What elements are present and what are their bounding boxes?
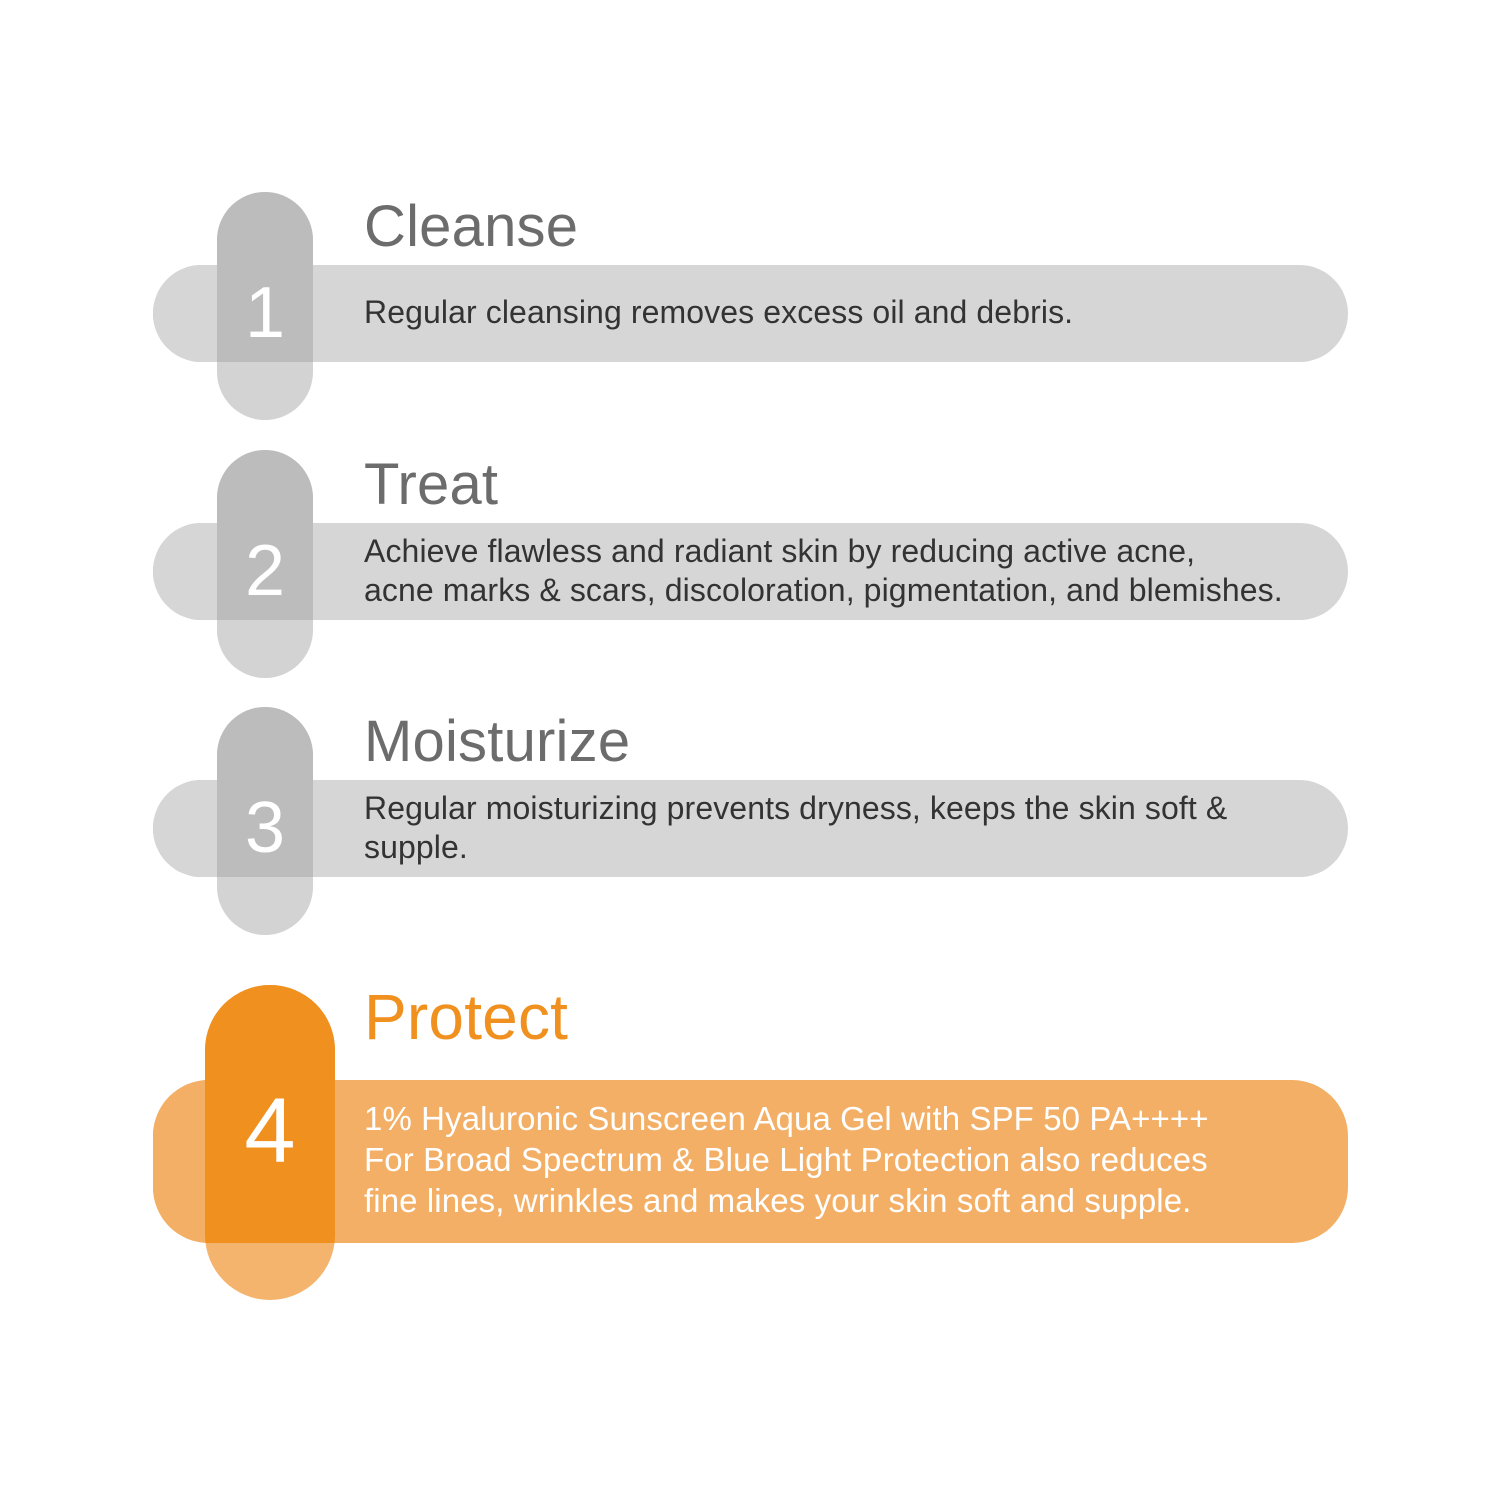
step-body-text: 1% Hyaluronic Sunscreen Aqua Gel with SP… xyxy=(364,1098,1209,1221)
skincare-routine-infographic: Cleanse Regular cleansing removes excess… xyxy=(0,0,1500,1500)
step-number-label: 4 xyxy=(205,1085,335,1177)
step-heading: Treat xyxy=(364,456,498,514)
step-heading: Protect xyxy=(364,985,568,1049)
step-item-4: Protect 1% Hyaluronic Sunscreen Aqua Gel… xyxy=(0,795,1500,1325)
step-heading: Cleanse xyxy=(364,198,578,256)
step-heading: Moisturize xyxy=(364,713,630,771)
